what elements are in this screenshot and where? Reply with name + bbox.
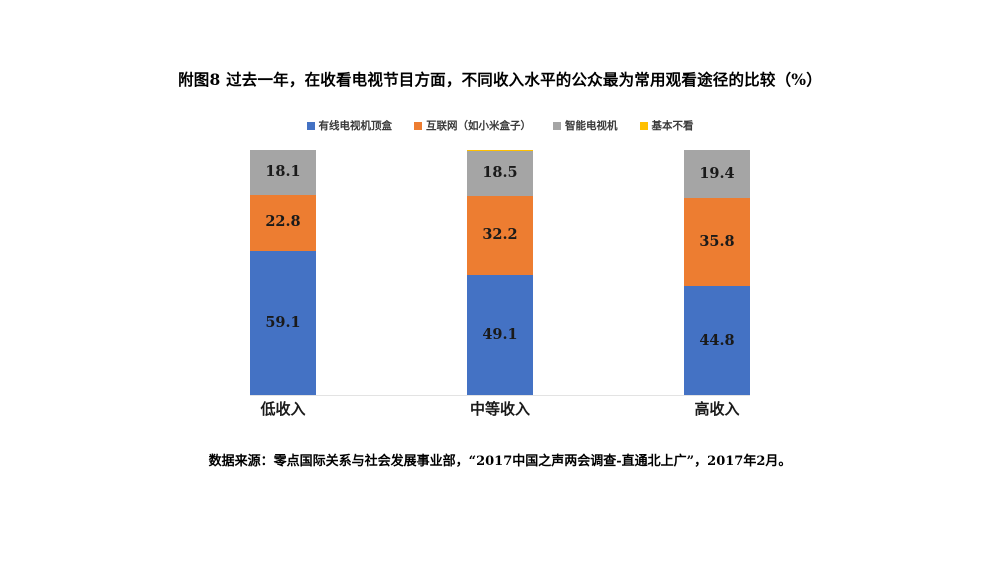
bar-value-label: 32.2 bbox=[482, 228, 517, 243]
bar-value-label: 18.1 bbox=[265, 165, 300, 180]
bar-value-label: 49.1 bbox=[482, 328, 517, 343]
bar-segment-cable-box[interactable]: 44.8 bbox=[684, 286, 750, 396]
chart-figure: 附图8 过去一年，在收看电视节目方面，不同收入水平的公众最为常用观看途径的比较（… bbox=[0, 0, 1000, 562]
bar-segment-cable-box[interactable]: 49.1 bbox=[467, 275, 533, 396]
x-tick-label-middle-income: 中等收入 bbox=[467, 398, 533, 419]
x-axis-tick-labels: 低收入 中等收入 高收入 bbox=[250, 398, 750, 419]
bar-segment-cable-box[interactable]: 59.1 bbox=[250, 251, 316, 396]
legend-swatch-icon bbox=[640, 122, 648, 130]
page-title: 附图8 过去一年，在收看电视节目方面，不同收入水平的公众最为常用观看途径的比较（… bbox=[0, 68, 1000, 90]
legend-item-label: 智能电视机 bbox=[565, 121, 618, 132]
source-note: 数据来源：零点国际关系与社会发展事业部，“2017中国之声两会调查-直通北上广”… bbox=[0, 450, 1000, 469]
legend-item-rarely-watch[interactable]: 基本不看 bbox=[640, 121, 694, 132]
bars-container: 18.1 22.8 59.1 18.5 32.2 bbox=[250, 150, 750, 396]
legend-item-cable-box[interactable]: 有线电视机顶盒 bbox=[307, 121, 393, 132]
bar-segment-smart-tv[interactable]: 18.1 bbox=[250, 150, 316, 195]
bar-value-label: 59.1 bbox=[265, 316, 300, 331]
x-tick-label-low-income: 低收入 bbox=[250, 398, 316, 419]
plot-area: 18.1 22.8 59.1 18.5 32.2 bbox=[180, 150, 820, 396]
bar-segment-internet[interactable]: 22.8 bbox=[250, 195, 316, 251]
legend-swatch-icon bbox=[553, 122, 561, 130]
bar-value-label: 35.8 bbox=[699, 235, 734, 250]
x-axis-line bbox=[250, 395, 750, 396]
bar-value-label: 44.8 bbox=[699, 334, 734, 349]
bar-group-low-income[interactable]: 18.1 22.8 59.1 bbox=[250, 150, 316, 396]
legend-item-label: 有线电视机顶盒 bbox=[319, 121, 393, 132]
bar-value-label: 18.5 bbox=[482, 166, 517, 181]
bar-segment-smart-tv[interactable]: 19.4 bbox=[684, 150, 750, 198]
legend-item-internet[interactable]: 互联网（如小米盒子） bbox=[414, 121, 531, 132]
bar-value-label: 19.4 bbox=[699, 167, 734, 182]
bar-group-high-income[interactable]: 19.4 35.8 44.8 bbox=[684, 150, 750, 396]
legend-swatch-icon bbox=[414, 122, 422, 130]
legend-item-smart-tv[interactable]: 智能电视机 bbox=[553, 121, 618, 132]
bar-group-middle-income[interactable]: 18.5 32.2 49.1 bbox=[467, 150, 533, 396]
legend-item-label: 基本不看 bbox=[652, 121, 694, 132]
bar-segment-smart-tv[interactable]: 18.5 bbox=[467, 151, 533, 197]
chart-legend: 有线电视机顶盒 互联网（如小米盒子） 智能电视机 基本不看 bbox=[0, 121, 1000, 132]
bar-segment-internet[interactable]: 32.2 bbox=[467, 196, 533, 275]
bar-segment-internet[interactable]: 35.8 bbox=[684, 198, 750, 286]
legend-swatch-icon bbox=[307, 122, 315, 130]
bar-value-label: 22.8 bbox=[265, 215, 300, 230]
legend-item-label: 互联网（如小米盒子） bbox=[426, 121, 531, 132]
x-tick-label-high-income: 高收入 bbox=[684, 398, 750, 419]
